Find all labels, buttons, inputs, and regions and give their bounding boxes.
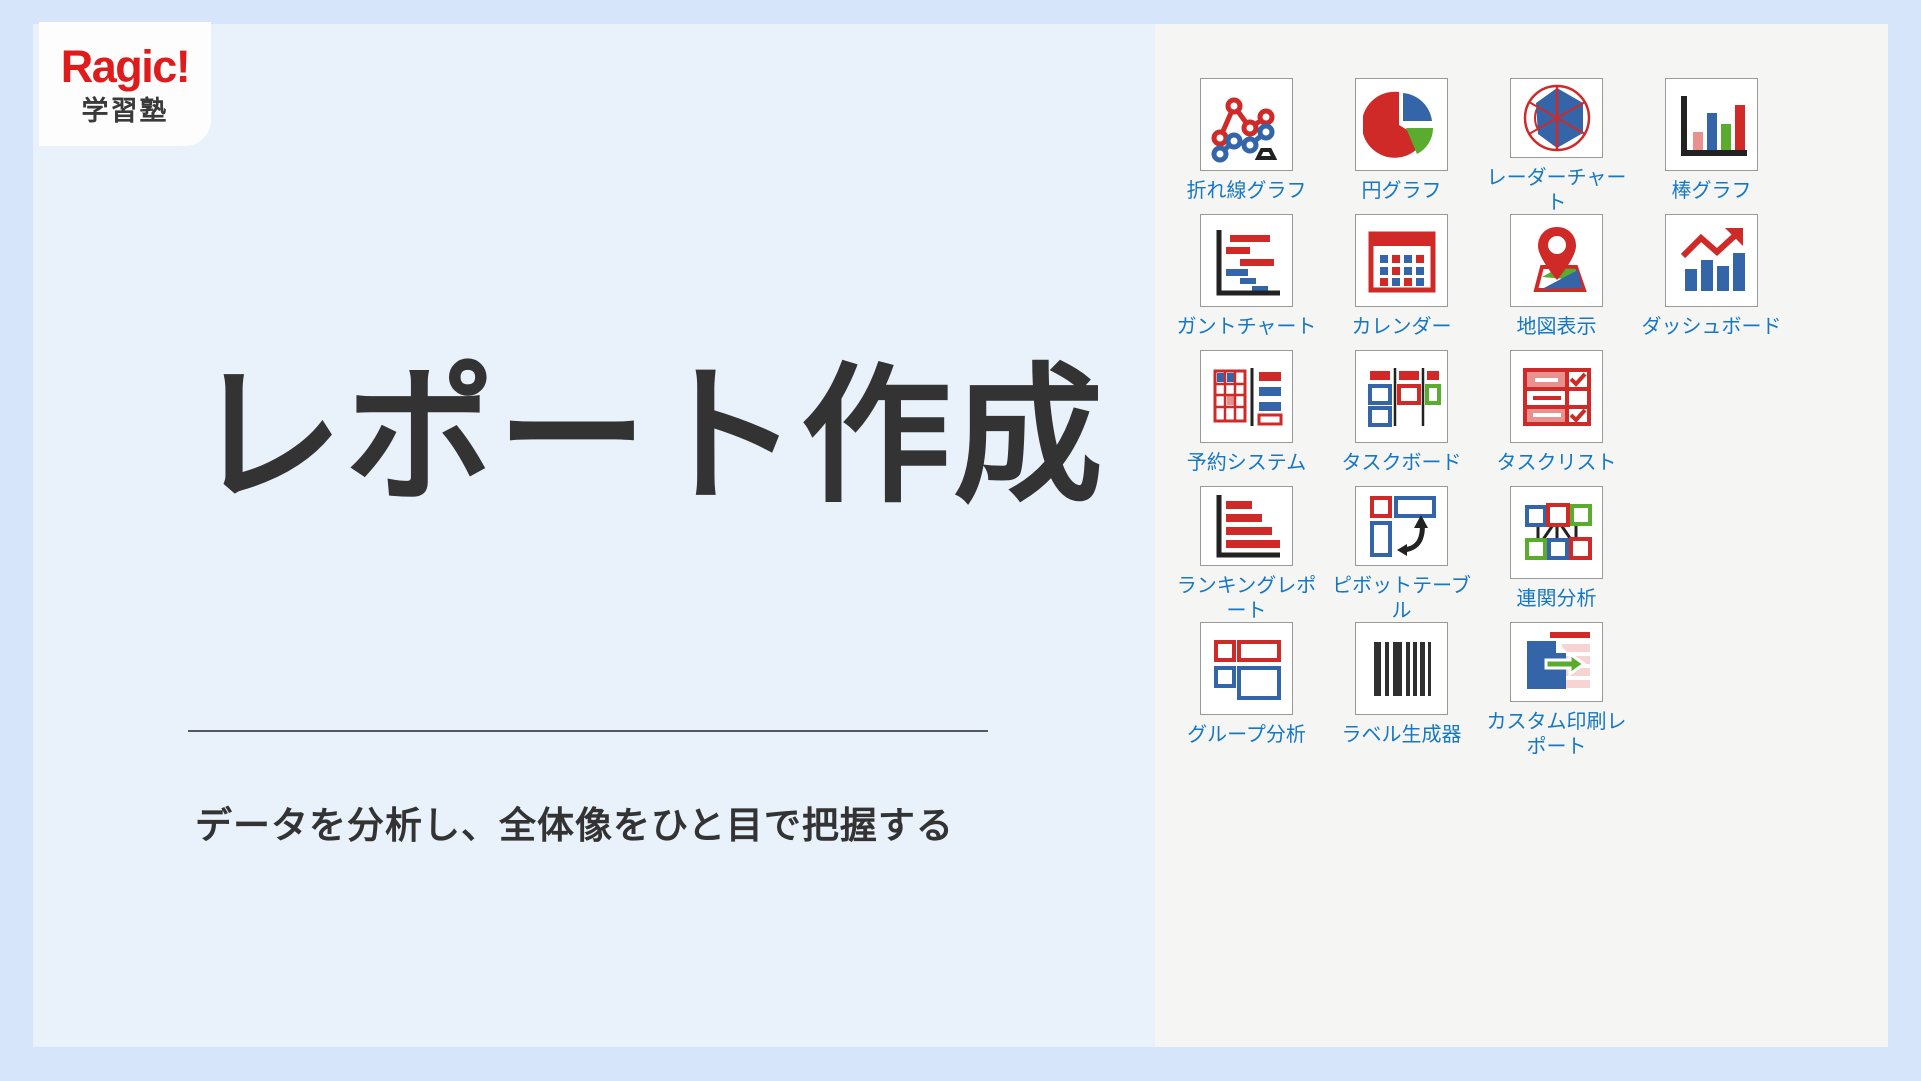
task-board-icon xyxy=(1355,350,1448,443)
right-panel: 折れ線グラフ 円グラフ xyxy=(1155,24,1888,1047)
calendar-icon xyxy=(1355,214,1448,307)
content-card: Ragic! 学習塾 レポート作成 データを分析し、全体像をひと目で把握する xyxy=(33,24,1888,1047)
page-subtitle: データを分析し、全体像をひと目で把握する xyxy=(195,804,954,848)
left-panel: Ragic! 学習塾 レポート作成 データを分析し、全体像をひと目で把握する xyxy=(33,24,1155,1047)
pie-chart-icon xyxy=(1355,78,1448,171)
custom-print-report-icon xyxy=(1510,622,1603,702)
feature-label: 棒グラフ xyxy=(1637,178,1787,202)
icon-row: グループ分析 xyxy=(1169,622,1869,758)
task-list-icon xyxy=(1510,350,1603,443)
gantt-chart-icon xyxy=(1200,214,1293,307)
feature-item-group-analysis[interactable]: グループ分析 xyxy=(1169,622,1324,758)
icon-row: ランキングレポート xyxy=(1169,486,1869,622)
booking-system-icon xyxy=(1200,350,1293,443)
icon-row: 予約システム xyxy=(1169,350,1869,486)
feature-label: レーダーチャート xyxy=(1482,165,1632,214)
dashboard-icon xyxy=(1665,214,1758,307)
feature-label: 円グラフ xyxy=(1327,178,1477,202)
feature-label: 折れ線グラフ xyxy=(1172,178,1322,202)
feature-item-radar-chart[interactable]: レーダーチャート xyxy=(1479,78,1634,214)
feature-item-line-chart[interactable]: 折れ線グラフ xyxy=(1169,78,1324,214)
feature-item-dashboard[interactable]: ダッシュボード xyxy=(1634,214,1789,350)
barcode-icon xyxy=(1355,622,1448,715)
radar-chart-icon xyxy=(1510,78,1603,158)
feature-label: ピボットテーブル xyxy=(1327,573,1477,622)
ranking-report-icon xyxy=(1200,486,1293,566)
title-divider xyxy=(188,730,988,732)
feature-item-relation-analysis[interactable]: 連関分析 xyxy=(1479,486,1634,622)
feature-label: カスタム印刷レポート xyxy=(1482,709,1632,758)
feature-label: 地図表示 xyxy=(1482,314,1632,338)
feature-label: ダッシュボード xyxy=(1637,314,1787,338)
feature-label: タスクボード xyxy=(1327,450,1477,474)
feature-icon-grid: 折れ線グラフ 円グラフ xyxy=(1169,78,1869,758)
feature-item-task-list[interactable]: タスクリスト xyxy=(1479,350,1634,486)
feature-label: カレンダー xyxy=(1327,314,1477,338)
feature-item-gantt-chart[interactable]: ガントチャート xyxy=(1169,214,1324,350)
feature-label: ガントチャート xyxy=(1172,314,1322,338)
brand-logo-subtitle: 学習塾 xyxy=(82,98,169,125)
grid-spacer xyxy=(1634,486,1789,622)
icon-row: 折れ線グラフ 円グラフ xyxy=(1169,78,1869,214)
line-chart-icon xyxy=(1200,78,1293,171)
bar-chart-icon xyxy=(1665,78,1758,171)
feature-label: 連関分析 xyxy=(1482,586,1632,610)
feature-item-booking-system[interactable]: 予約システム xyxy=(1169,350,1324,486)
grid-spacer xyxy=(1634,622,1789,758)
pivot-table-icon xyxy=(1355,486,1448,566)
feature-label: 予約システム xyxy=(1172,450,1322,474)
slide-root: Ragic! 学習塾 レポート作成 データを分析し、全体像をひと目で把握する xyxy=(0,0,1921,1081)
feature-label: グループ分析 xyxy=(1172,722,1322,746)
brand-logo-badge: Ragic! 学習塾 xyxy=(39,22,211,146)
icon-row: ガントチャート xyxy=(1169,214,1869,350)
grid-spacer xyxy=(1634,350,1789,486)
feature-item-bar-chart[interactable]: 棒グラフ xyxy=(1634,78,1789,214)
feature-label: ランキングレポート xyxy=(1172,573,1322,622)
feature-item-custom-print-report[interactable]: カスタム印刷レポート xyxy=(1479,622,1634,758)
group-analysis-icon xyxy=(1200,622,1293,715)
page-title: レポート作成 xyxy=(193,362,1105,512)
relation-analysis-icon xyxy=(1510,486,1603,579)
feature-item-label-generator[interactable]: ラベル生成器 xyxy=(1324,622,1479,758)
feature-item-pivot-table[interactable]: ピボットテーブル xyxy=(1324,486,1479,622)
feature-item-ranking-report[interactable]: ランキングレポート xyxy=(1169,486,1324,622)
feature-item-calendar[interactable]: カレンダー xyxy=(1324,214,1479,350)
feature-item-pie-chart[interactable]: 円グラフ xyxy=(1324,78,1479,214)
feature-label: タスクリスト xyxy=(1482,450,1632,474)
map-pin-icon xyxy=(1510,214,1603,307)
brand-logo-wordmark: Ragic! xyxy=(61,44,190,89)
feature-item-map-view[interactable]: 地図表示 xyxy=(1479,214,1634,350)
feature-item-task-board[interactable]: タスクボード xyxy=(1324,350,1479,486)
feature-label: ラベル生成器 xyxy=(1327,722,1477,746)
